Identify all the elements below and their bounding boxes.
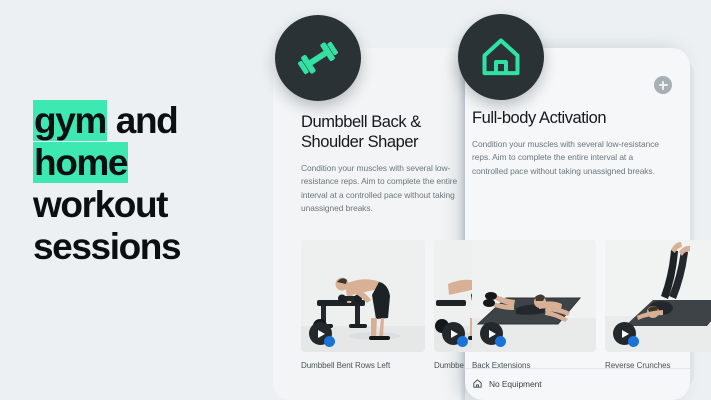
- page-headline: gym and home workout sessions: [33, 100, 268, 268]
- card-dumbbell-icon-badge: [275, 15, 361, 101]
- card-dumbbell-title: Dumbbell Back & Shoulder Shaper: [301, 112, 481, 152]
- headline-line-3: workout: [33, 184, 268, 226]
- card-fullbody-footer[interactable]: No Equipment: [472, 378, 541, 389]
- exercise-label: Dumbbell Bent Rows Left: [301, 361, 425, 370]
- card-fullbody-icon-badge: [458, 14, 544, 100]
- add-exercise-badge[interactable]: [457, 336, 468, 347]
- card-fullbody-exercise-list: Back Extensions: [472, 240, 711, 370]
- card-dumbbell-content: Dumbbell Back & Shoulder Shaper Conditio…: [301, 112, 481, 216]
- add-exercise-badge[interactable]: [324, 336, 335, 347]
- headline-highlight-home: home: [33, 142, 128, 183]
- headline-line-1-rest: and: [107, 100, 177, 141]
- play-button[interactable]: [309, 322, 332, 345]
- card-fullbody-content: Full-body Activation Condition your musc…: [472, 108, 668, 178]
- card-footer-divider: [465, 368, 690, 369]
- exercise-thumbnail[interactable]: [301, 240, 425, 352]
- play-button[interactable]: [480, 322, 503, 345]
- headline-line-2: home: [33, 142, 268, 184]
- equipment-label: No Equipment: [489, 379, 541, 389]
- exercise-thumbnail[interactable]: [605, 240, 711, 352]
- headline-line-1: gym and: [33, 100, 268, 142]
- list-item[interactable]: Reverse Crunches: [605, 240, 711, 370]
- home-icon: [478, 34, 524, 80]
- card-fullbody-description: Condition your muscles with several low-…: [472, 138, 668, 178]
- dumbbell-icon: [294, 34, 342, 82]
- card-fullbody-title: Full-body Activation: [472, 108, 668, 128]
- play-button[interactable]: [442, 322, 465, 345]
- house-outline-icon: [472, 378, 483, 389]
- exercise-thumbnail[interactable]: [472, 240, 596, 352]
- list-item[interactable]: Dumbbell Bent Rows Left: [301, 240, 425, 370]
- headline-highlight-gym: gym: [33, 100, 107, 141]
- add-exercise-badge[interactable]: [495, 336, 506, 347]
- add-workout-button[interactable]: [654, 76, 672, 94]
- play-button[interactable]: [613, 322, 636, 345]
- add-exercise-badge[interactable]: [628, 336, 639, 347]
- headline-line-4: sessions: [33, 226, 268, 268]
- list-item[interactable]: Back Extensions: [472, 240, 596, 370]
- card-dumbbell-description: Condition your muscles with several low-…: [301, 162, 481, 216]
- workout-card-stack: Dumbbell Back & Shoulder Shaper Conditio…: [272, 0, 711, 400]
